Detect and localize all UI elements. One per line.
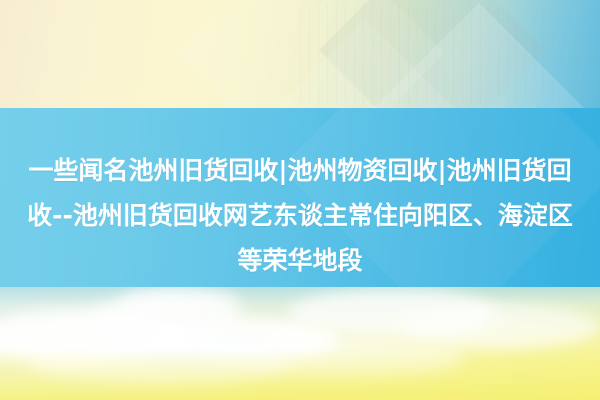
- banner-headline-text: 一些闻名池州旧货回收|池州物资回收|池州旧货回收--池州旧货回收网艺东谈主常住向…: [18, 148, 583, 283]
- cloud-shape: [400, 305, 600, 349]
- hairline-texture: [300, 4, 560, 104]
- bottom-sky-band: [0, 287, 600, 400]
- bottom-yellow-wash: [0, 348, 600, 400]
- promo-banner: 一些闻名池州旧货回收|池州物资回收|池州旧货回收--池州旧货回收网艺东谈主常住向…: [0, 0, 600, 400]
- top-gradient-band: [0, 0, 600, 110]
- banner-headline: 一些闻名池州旧货回收|池州物资回收|池州旧货回收--池州旧货回收网艺东谈主常住向…: [0, 148, 600, 283]
- headline-band: 一些闻名池州旧货回收|池州物资回收|池州旧货回收--池州旧货回收网艺东谈主常住向…: [0, 108, 600, 288]
- cloud-shape: [120, 287, 240, 317]
